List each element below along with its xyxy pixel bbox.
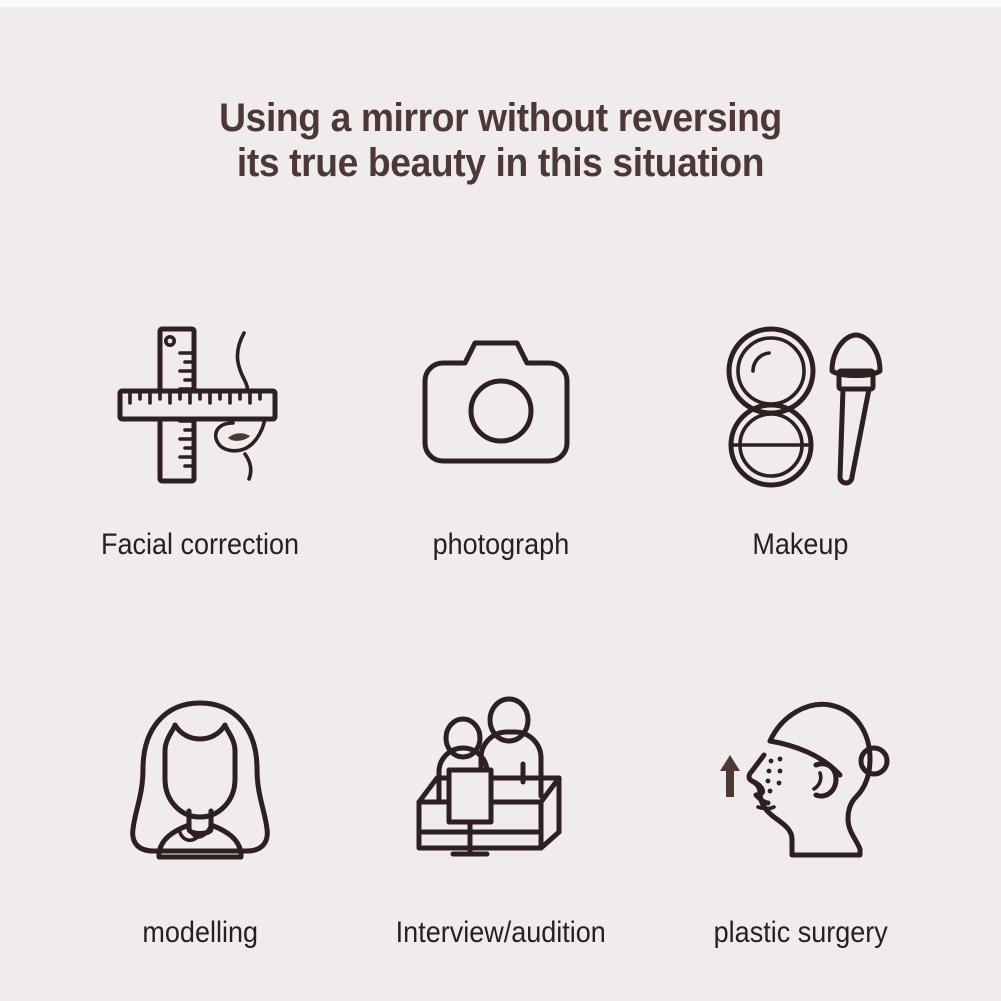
use-case-label: Makeup bbox=[752, 528, 848, 562]
use-case-label: Interview/audition bbox=[395, 916, 605, 950]
use-case-row-1: Facial correction photograph bbox=[0, 272, 1001, 562]
use-case-row-2: modelling bbox=[0, 660, 1001, 950]
profile-head-arrow-icon bbox=[708, 680, 893, 880]
ruler-face-icon bbox=[106, 306, 296, 506]
use-case-item-photograph[interactable]: photograph bbox=[351, 306, 651, 562]
use-case-item-plastic-surgery[interactable]: plastic surgery bbox=[651, 680, 951, 950]
use-case-item-modelling[interactable]: modelling bbox=[51, 680, 351, 950]
use-case-label: photograph bbox=[432, 528, 569, 562]
camera-icon bbox=[411, 306, 591, 506]
makeup-compact-brush-icon bbox=[713, 306, 888, 506]
use-case-item-makeup[interactable]: Makeup bbox=[651, 306, 951, 562]
use-case-label: plastic surgery bbox=[713, 916, 887, 950]
use-case-item-facial-correction[interactable]: Facial correction bbox=[51, 306, 351, 562]
poster-canvas: Using a mirror without reversing its tru… bbox=[0, 0, 1001, 1001]
use-case-label: modelling bbox=[143, 916, 259, 950]
use-case-item-interview[interactable]: Interview/audition bbox=[351, 680, 651, 950]
page-title: Using a mirror without reversing its tru… bbox=[0, 96, 1001, 186]
use-case-label: Facial correction bbox=[101, 528, 299, 562]
interview-panel-desk-icon bbox=[411, 680, 591, 880]
use-case-grid: Facial correction photograph bbox=[0, 272, 1001, 950]
page-title-line-1: Using a mirror without reversing bbox=[35, 96, 966, 141]
page-title-line-2: its true beauty in this situation bbox=[35, 141, 966, 186]
woman-bust-icon bbox=[113, 680, 288, 880]
